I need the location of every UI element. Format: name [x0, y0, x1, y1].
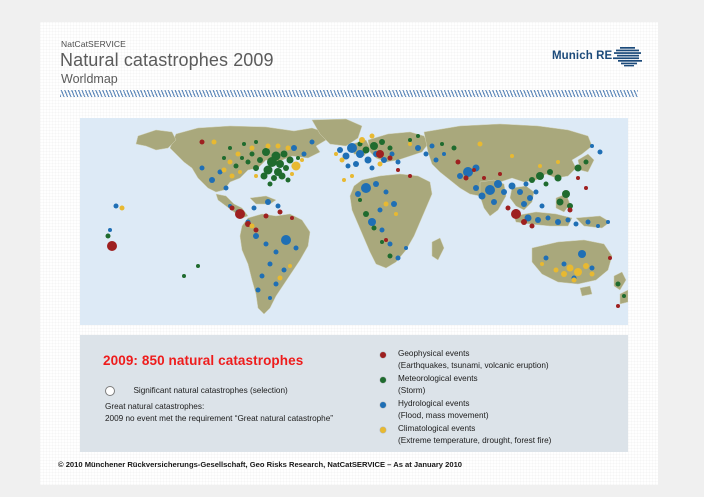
eyebrow-label: NatCatSERVICE: [61, 39, 126, 49]
legend-item-geophysical-label: Geophysical events: [398, 349, 626, 360]
event-category-legend: Geophysical events (Earthquakes, tsunami…: [376, 349, 626, 449]
page-subtitle: Worldmap: [61, 72, 118, 86]
legend-item-meteorological-label: Meteorological events: [398, 374, 626, 385]
hatched-divider: [60, 90, 638, 97]
legend-item-hydrological-label: Hydrological events: [398, 399, 626, 410]
legend-item-hydrological[interactable]: Hydrological events (Flood, mass movemen…: [376, 399, 626, 421]
legend-item-meteorological-detail: (Storm): [398, 385, 626, 396]
hydrological-dot-icon: [380, 402, 386, 408]
legend-item-geophysical[interactable]: Geophysical events (Earthquakes, tsunami…: [376, 349, 626, 371]
legend-item-climatological-detail: (Extreme temperature, drought, forest fi…: [398, 435, 626, 446]
significant-catastrophes-label: Significant natural catastrophes (select…: [133, 386, 287, 395]
legend-item-climatological-label: Climatological events: [398, 424, 626, 435]
climatological-dot-icon: [380, 427, 386, 433]
legend-item-hydrological-detail: (Flood, mass movement): [398, 410, 626, 421]
catastrophe-count-headline: 2009: 850 natural catastrophes: [103, 353, 303, 368]
open-circle-icon: [105, 386, 115, 396]
world-map-svg: [80, 118, 628, 325]
world-map[interactable]: [80, 118, 628, 325]
logo-wordmark: Munich RE: [552, 50, 612, 62]
munich-re-logo: Munich RE: [552, 44, 648, 70]
great-catastrophes-note: Great natural catastrophes: 2009 no even…: [105, 401, 370, 424]
significant-catastrophes-row: Significant natural catastrophes (select…: [105, 382, 395, 400]
legend-panel: 2009: 850 natural catastrophes Significa…: [80, 335, 628, 452]
legend-item-climatological[interactable]: Climatological events (Extreme temperatu…: [376, 424, 626, 446]
legend-item-meteorological[interactable]: Meteorological events (Storm): [376, 374, 626, 396]
meteorological-dot-icon: [380, 377, 386, 383]
geophysical-dot-icon: [380, 352, 386, 358]
munich-re-stripes-icon: [613, 46, 643, 67]
copyright-footer: © 2010 Münchener Rückversicherungs-Gesel…: [58, 460, 462, 469]
slide-canvas: NatCatSERVICE Natural catastrophes 2009 …: [40, 22, 658, 485]
slide-viewer: NatCatSERVICE Natural catastrophes 2009 …: [0, 0, 704, 497]
legend-item-geophysical-detail: (Earthquakes, tsunami, volcanic eruption…: [398, 360, 626, 371]
page-title: Natural catastrophes 2009: [60, 50, 274, 71]
